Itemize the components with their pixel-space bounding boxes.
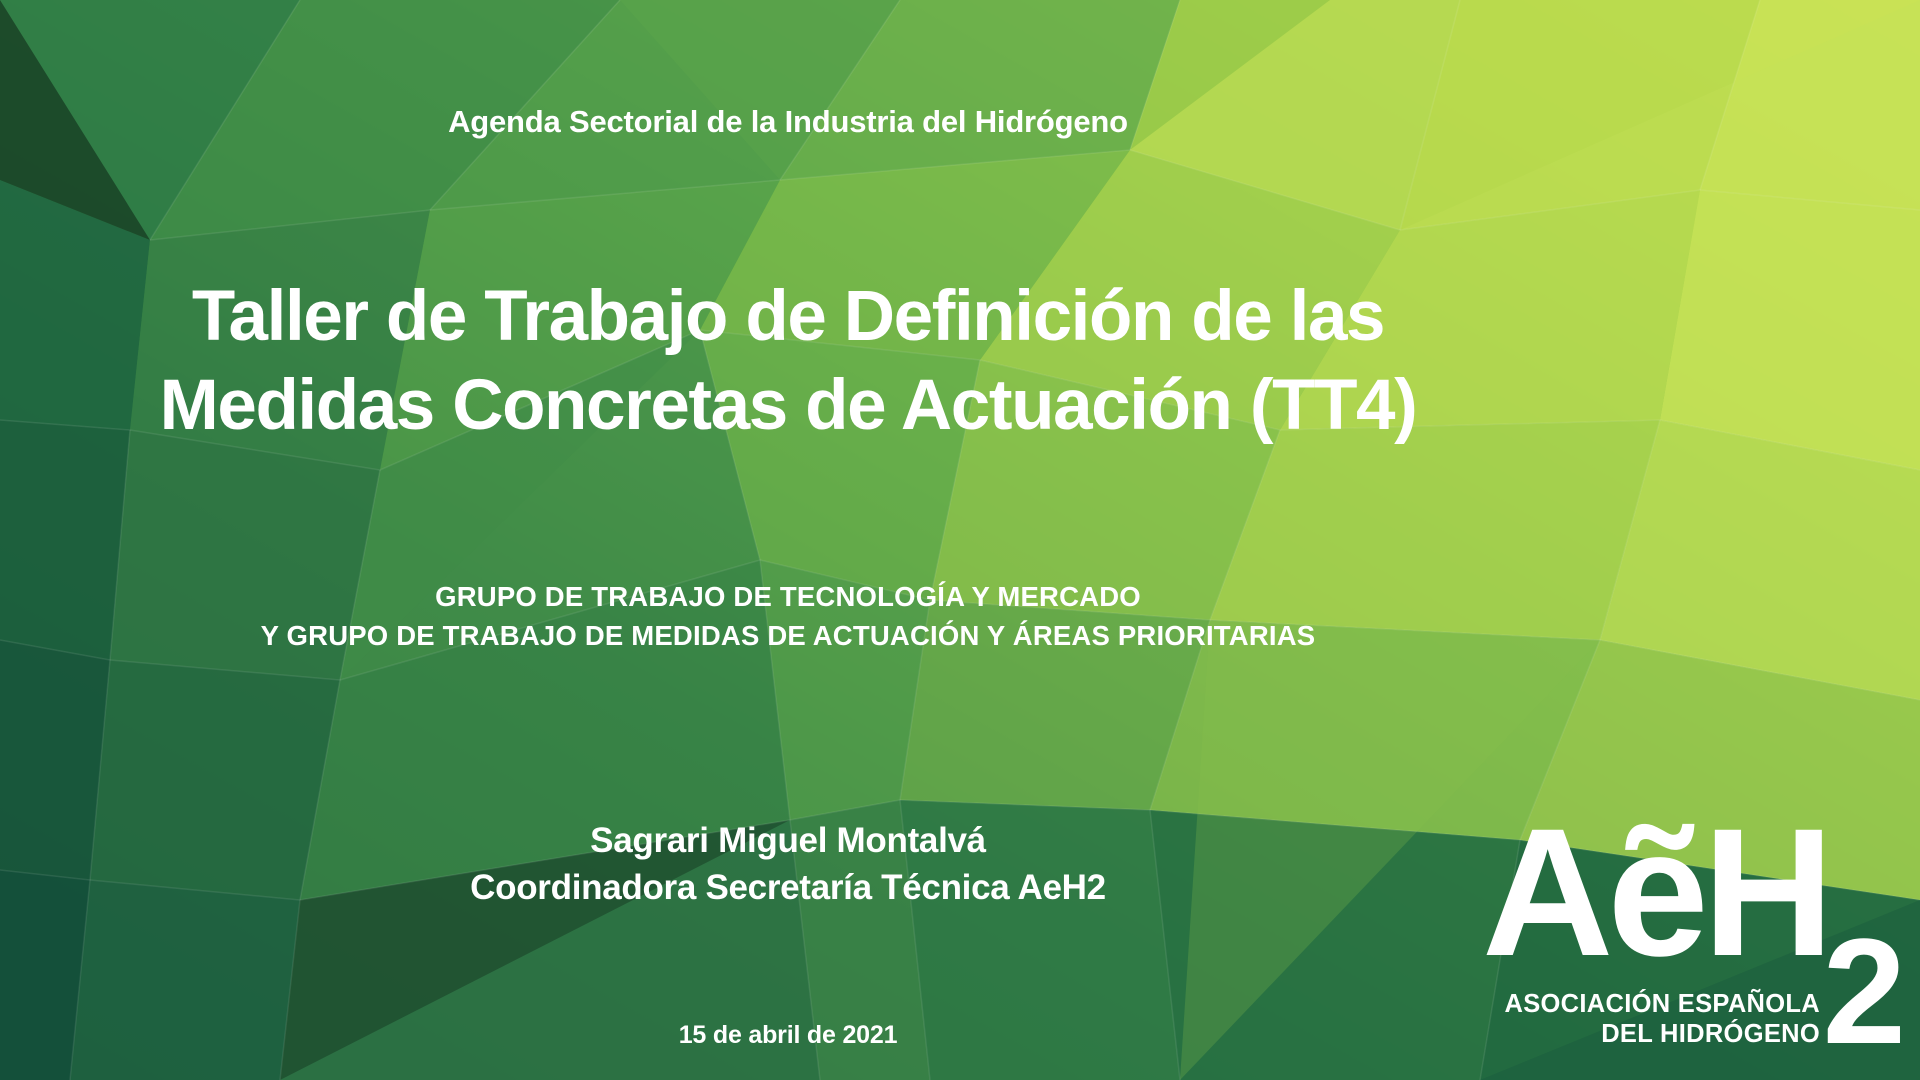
logo-tagline: ASOCIACIÓN ESPAÑOLA DEL HIDRÓGENO — [1505, 989, 1821, 1050]
title-line-1: Taller de Trabajo de Definición de las — [0, 272, 1576, 361]
logo-subscript-two: 2 — [1823, 916, 1906, 1066]
presenter-info: Sagrari Miguel Montalvá Coordinadora Sec… — [0, 818, 1576, 911]
logo-wordmark: AẽH — [1482, 801, 1828, 983]
subtitle-line-1: GRUPO DE TRABAJO DE TECNOLOGÍA Y MERCADO — [0, 577, 1576, 616]
slide-content: Agenda Sectorial de la Industria del Hid… — [0, 0, 1920, 1080]
presenter-name: Sagrari Miguel Montalvá — [0, 818, 1576, 865]
slide-eyebrow: Agenda Sectorial de la Industria del Hid… — [0, 104, 1576, 140]
slide-date: 15 de abril de 2021 — [0, 1021, 1576, 1050]
aeh2-logo: AẽH 2 ASOCIACIÓN ESPAÑOLA DEL HIDRÓGENO — [1482, 807, 1912, 1072]
presentation-slide: Agenda Sectorial de la Industria del Hid… — [0, 0, 1920, 1080]
title-line-2: Medidas Concretas de Actuación (TT4) — [0, 361, 1576, 450]
slide-subtitle: GRUPO DE TRABAJO DE TECNOLOGÍA Y MERCADO… — [0, 577, 1576, 655]
logo-tagline-line-1: ASOCIACIÓN ESPAÑOLA — [1505, 989, 1821, 1020]
slide-title: Taller de Trabajo de Definición de las M… — [0, 272, 1576, 451]
subtitle-line-2: Y GRUPO DE TRABAJO DE MEDIDAS DE ACTUACI… — [0, 616, 1576, 655]
logo-tagline-line-2: DEL HIDRÓGENO — [1505, 1019, 1821, 1050]
presenter-role: Coordinadora Secretaría Técnica AeH2 — [0, 865, 1576, 912]
